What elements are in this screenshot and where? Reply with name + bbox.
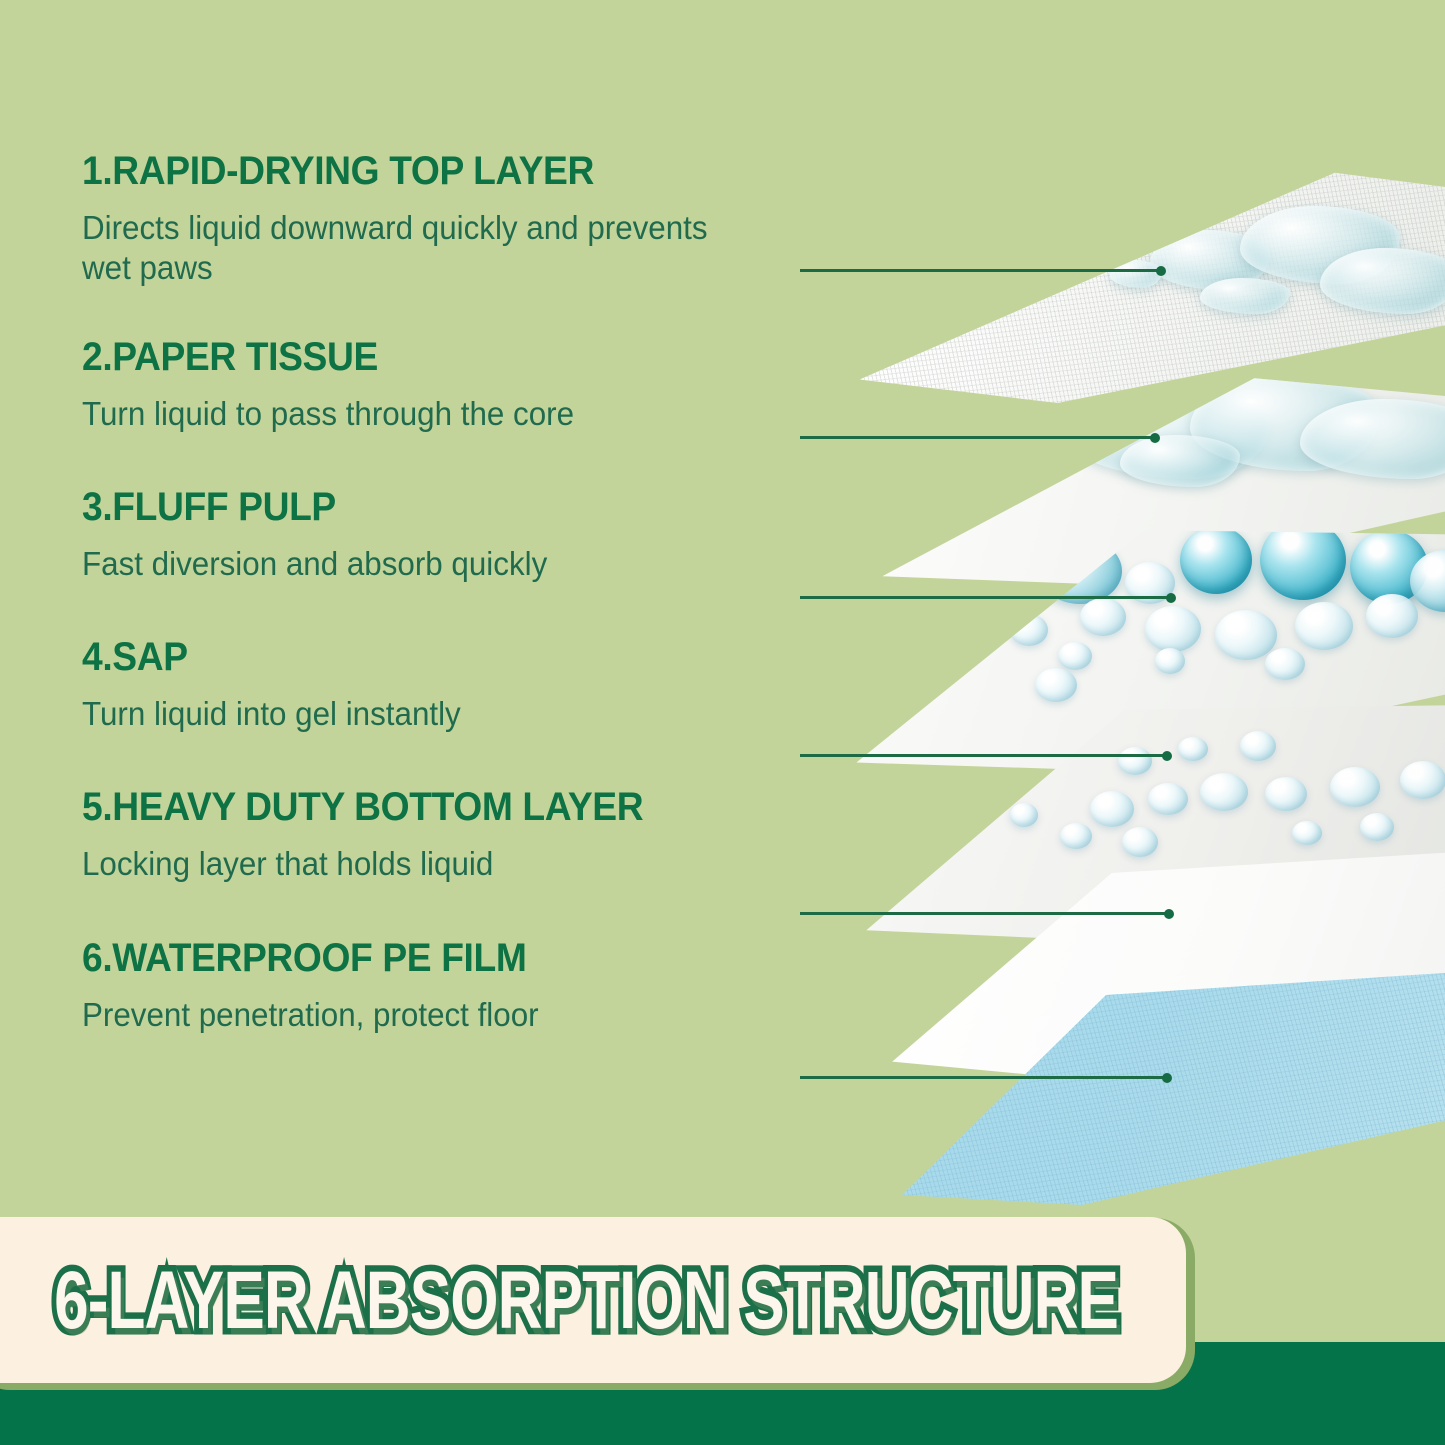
gel-bead [1125,562,1175,604]
water-droplet [1240,731,1276,761]
gel-bead [1010,614,1048,646]
water-droplet [1292,821,1322,845]
layer-title-1: 1.RAPID-DRYING TOP LAYER [82,150,733,192]
infographic-canvas: 1.RAPID-DRYING TOP LAYER Directs liquid … [0,0,1445,1445]
layer-block-6: 6.WATERPROOF PE FILM Prevent penetration… [82,937,782,1035]
gel-bead [1366,594,1418,638]
ice-shard [1200,278,1290,314]
water-droplet [1265,777,1307,811]
layer-description-2: Turn liquid to pass through the core [82,394,747,434]
ice-shard [1070,244,1100,262]
water-droplet [1360,813,1394,841]
water-droplet [1118,747,1152,775]
layer-title-2: 2.PAPER TISSUE [82,336,733,378]
layer-block-3: 3.FLUFF PULP Fast diversion and absorb q… [82,486,782,584]
gel-bead [1180,526,1252,594]
product-layer-stack [840,150,1445,1140]
water-droplet [1200,773,1248,811]
layer-block-5: 5.HEAVY DUTY BOTTOM LAYER Locking layer … [82,786,782,884]
layer-title-3: 3.FLUFF PULP [82,486,733,528]
gel-bead [1080,598,1126,636]
water-droplet [1148,783,1188,815]
layer-description-1: Directs liquid downward quickly and prev… [82,208,747,289]
layer-description-list: 1.RAPID-DRYING TOP LAYER Directs liquid … [82,150,782,1035]
water-droplet [1060,823,1092,849]
layer-description-3: Fast diversion and absorb quickly [82,544,747,584]
gel-bead [1155,648,1185,674]
layer-block-2: 2.PAPER TISSUE Turn liquid to pass throu… [82,336,782,434]
ice-shard [1110,260,1162,288]
gel-bead [1295,602,1353,650]
gel-bead [1215,610,1277,660]
layer-title-5: 5.HEAVY DUTY BOTTOM LAYER [82,786,733,828]
gel-mass [1120,435,1240,487]
gel-bead [1035,668,1077,702]
water-droplet [1122,827,1158,857]
banner-title: 6-LAYER ABSORPTION STRUCTURE [54,1253,1118,1346]
layer-title-4: 4.SAP [82,636,733,678]
banner-card: 6-LAYER ABSORPTION STRUCTURE [0,1217,1186,1383]
gel-bead [1265,648,1305,680]
water-droplet [1400,761,1445,799]
water-droplet [1330,767,1380,807]
water-droplet [1178,737,1208,761]
layer-description-5: Locking layer that holds liquid [82,844,747,884]
layer-block-4: 4.SAP Turn liquid into gel instantly [82,636,782,734]
layer-description-4: Turn liquid into gel instantly [82,694,747,734]
gel-bead [1145,606,1201,652]
gel-bead [1058,642,1092,670]
layer-description-6: Prevent penetration, protect floor [82,995,747,1035]
layer-block-1: 1.RAPID-DRYING TOP LAYER Directs liquid … [82,150,782,289]
layer-title-6: 6.WATERPROOF PE FILM [82,937,733,979]
water-droplet [1090,791,1134,827]
rapid-drying-top-layer-sheet [820,168,1445,403]
water-droplet [1010,803,1038,827]
